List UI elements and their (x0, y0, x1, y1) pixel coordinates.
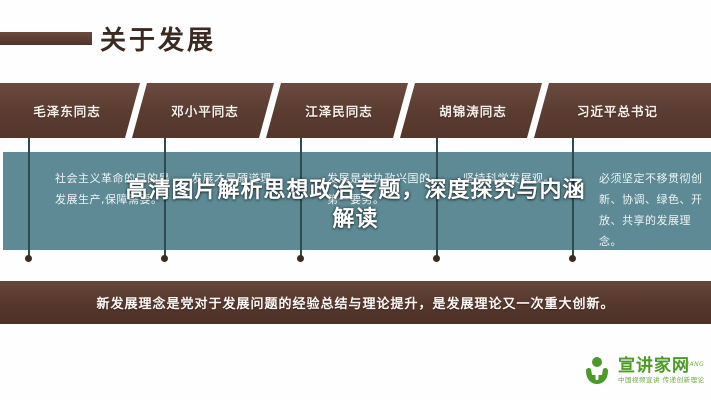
timeline-description-2: 发展是党执政兴国的第一要务。 (327, 152, 439, 250)
page-title: 关于发展 (100, 20, 216, 57)
timeline-description-0: 社会主义革命的目的是发展生产,保障需要。 (55, 152, 170, 250)
timeline-node-dot-3 (433, 255, 440, 262)
timeline-connector-2 (300, 138, 302, 258)
timeline-node-dot-4 (569, 255, 576, 262)
timeline-chevron-label-2: 江泽民同志 (305, 101, 373, 120)
summary-banner: 新发展理念是党对于发展问题的经验总结与理论提升，是发展理论又一次重大创新。 (0, 281, 711, 324)
timeline-chevron-0[interactable]: 毛泽东同志 (0, 83, 140, 138)
timeline-description-panel: 社会主义革命的目的是发展生产,保障需要。 发展才是硬道理。 发展是党执政兴国的第… (3, 152, 711, 250)
timeline-description-text-4: 必须坚定不移贯彻创新、协调、绿色、开放、共享的发展理念。 (599, 168, 709, 252)
timeline-chevron-1[interactable]: 邓小平同志 (132, 83, 274, 138)
header-accent-bar (0, 32, 92, 45)
timeline-node-dot-0 (25, 255, 32, 262)
timeline-description-3: 坚持科学发展观。 (463, 152, 575, 250)
timeline-node-dot-1 (161, 255, 168, 262)
slide-canvas: 关于发展 毛泽东同志 邓小平同志 江泽民同志 胡锦涛同志 习近平总书记 社会主义… (0, 0, 711, 400)
timeline-connector-1 (164, 138, 166, 258)
timeline-description-4: 必须坚定不移贯彻创新、协调、绿色、开放、共享的发展理念。 (599, 152, 709, 250)
timeline-connector-4 (572, 138, 574, 258)
timeline-chevron-2[interactable]: 江泽民同志 (266, 83, 408, 138)
timeline-description-1: 发展才是硬道理。 (191, 152, 306, 250)
person-figure-icon (580, 354, 614, 388)
timeline-chevron-label-1: 邓小平同志 (171, 101, 239, 120)
timeline-connector-0 (28, 138, 30, 258)
timeline-chevron-strip: 毛泽东同志 邓小平同志 江泽民同志 胡锦涛同志 习近平总书记 (0, 83, 711, 138)
slide-header: 关于发展 (0, 14, 711, 54)
timeline-chevron-4[interactable]: 习近平总书记 (534, 83, 711, 138)
site-logo[interactable]: 宣讲家网 JIANG 中国视频宣讲 传递创新理论 (580, 352, 702, 390)
timeline-chevron-label-4: 习近平总书记 (577, 101, 658, 120)
timeline-connector-3 (436, 138, 438, 258)
timeline-description-text-3: 坚持科学发展观。 (463, 168, 575, 189)
site-logo-abbreviation: JIANG (685, 361, 704, 368)
site-logo-tagline: 中国视频宣讲 传递创新理论 (618, 374, 705, 384)
summary-banner-text: 新发展理念是党对于发展问题的经验总结与理论提升，是发展理论又一次重大创新。 (96, 293, 614, 312)
timeline-description-text-2: 发展是党执政兴国的第一要务。 (327, 168, 439, 210)
timeline-chevron-label-0: 毛泽东同志 (33, 101, 101, 120)
timeline-chevron-label-3: 胡锦涛同志 (439, 101, 507, 120)
timeline-description-text-1: 发展才是硬道理。 (191, 168, 306, 189)
site-logo-name: 宣讲家网 (618, 351, 690, 376)
timeline-chevron-3[interactable]: 胡锦涛同志 (400, 83, 542, 138)
timeline-description-text-0: 社会主义革命的目的是发展生产,保障需要。 (55, 168, 170, 210)
timeline-node-dot-2 (297, 255, 304, 262)
